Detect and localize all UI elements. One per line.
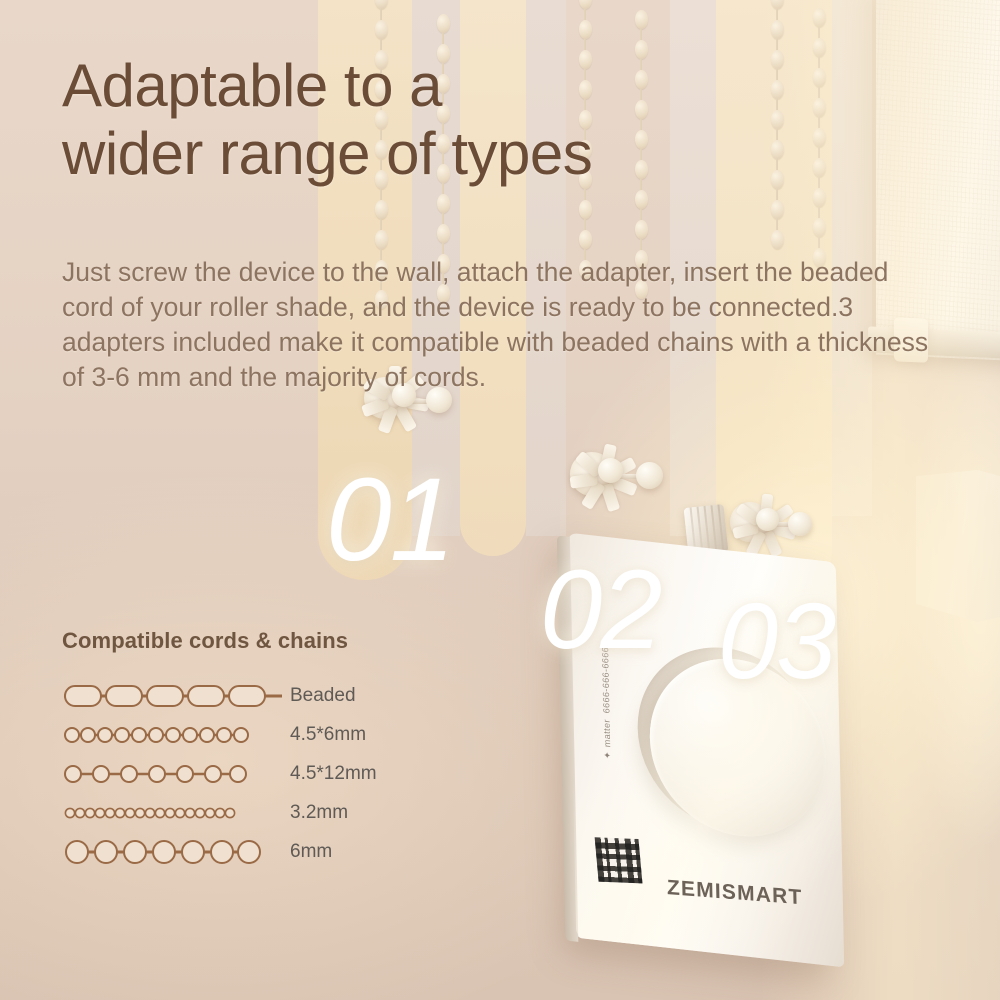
beaded-chain-round-spaced-icon	[62, 759, 284, 789]
cord-row: 4.5*12mm	[62, 754, 482, 793]
cord-row: 4.5*6mm	[62, 715, 482, 754]
compatible-cords-section: Compatible cords & chains	[62, 628, 482, 871]
cord-label: 4.5*6mm	[290, 724, 366, 746]
headline-line-2: wider range of types	[62, 120, 592, 188]
cord-label: Beaded	[290, 685, 356, 707]
cord-row: 6mm	[62, 832, 482, 871]
headline-line-1: Adaptable to a	[62, 52, 442, 119]
compatible-cords-title: Compatible cords & chains	[62, 628, 482, 654]
cord-row: Beaded	[62, 676, 482, 715]
page-title: Adaptable to a wider range of types	[62, 52, 592, 189]
cord-label: 6mm	[290, 841, 332, 863]
step-number-01: 01	[326, 452, 453, 588]
product-marketing-image: ✦matter 6666-666-6666 ZEMISMART Adaptabl…	[0, 0, 1000, 1000]
beaded-chain-micro-icon	[62, 798, 284, 828]
description-paragraph: Just screw the device to the wall, attac…	[62, 255, 932, 396]
beaded-chain-round-dense-icon	[62, 720, 284, 750]
cord-label: 3.2mm	[290, 802, 348, 824]
content-layer: Adaptable to a wider range of types Just…	[0, 0, 1000, 1000]
cord-label: 4.5*12mm	[290, 763, 377, 785]
step-number-02: 02	[540, 545, 661, 674]
step-number-03: 03	[718, 578, 834, 703]
beaded-chain-oval-icon	[62, 681, 284, 711]
beaded-chain-large-icon	[62, 837, 284, 867]
cord-row: 3.2mm	[62, 793, 482, 832]
